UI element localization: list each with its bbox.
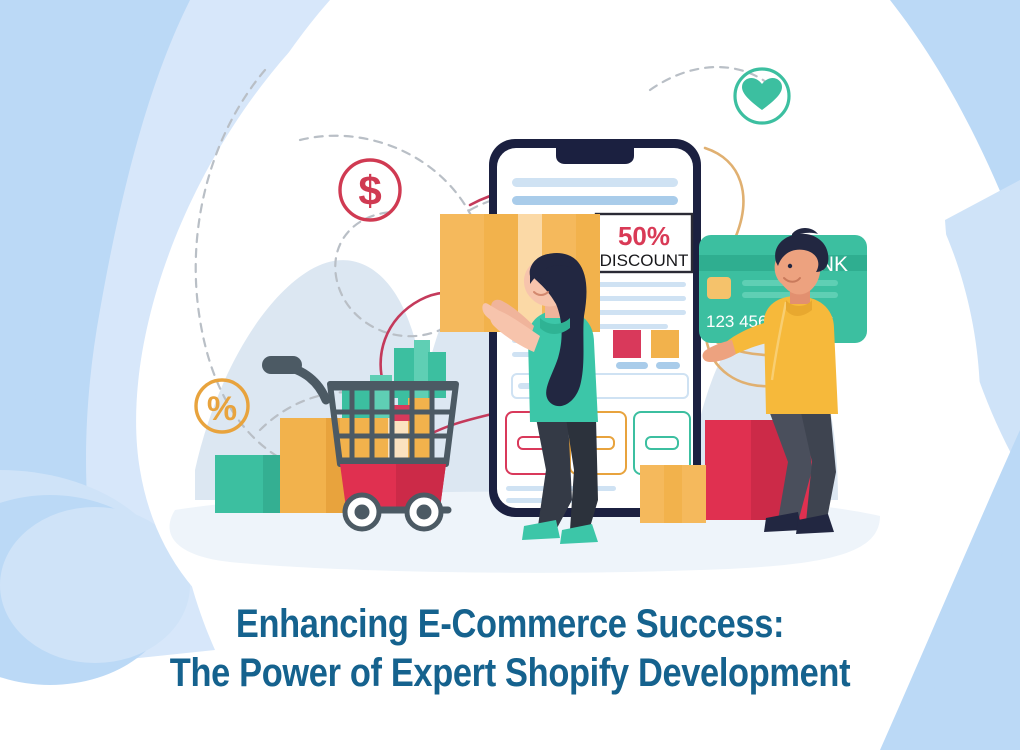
man-eye xyxy=(788,264,792,268)
swatch-red xyxy=(613,330,641,358)
cart-basket-grid xyxy=(332,388,452,462)
ecommerce-banner: $ % xyxy=(0,0,1020,750)
phone-tag-2 xyxy=(656,362,680,369)
dollar-badge: $ xyxy=(340,160,400,220)
phone-notch xyxy=(556,148,634,164)
illustration-layer: $ % xyxy=(0,0,1020,750)
phone-line-1 xyxy=(512,178,678,187)
cart-wheel-left xyxy=(345,495,379,529)
discount-percent: 50% xyxy=(618,221,670,251)
cart-handle-grip xyxy=(262,356,302,374)
dollar-icon: $ xyxy=(358,167,381,214)
woman-shoe-front xyxy=(560,524,598,544)
credit-card-chip xyxy=(707,277,731,299)
percent-badge: % xyxy=(196,380,248,432)
heart-badge xyxy=(735,69,789,123)
percent-icon: % xyxy=(207,390,237,428)
heart-icon xyxy=(742,78,782,110)
box-orange-right xyxy=(640,465,706,523)
woman-shoe-back xyxy=(522,520,560,540)
man-forearm xyxy=(703,340,736,362)
woman-eye xyxy=(538,278,542,282)
cart-wheel-right xyxy=(407,495,441,529)
swatch-orange xyxy=(651,330,679,358)
phone-line-2 xyxy=(512,196,678,205)
discount-badge: 50% DISCOUNT xyxy=(596,214,692,272)
phone-tag-1 xyxy=(616,362,648,369)
discount-label: DISCOUNT xyxy=(600,251,689,270)
